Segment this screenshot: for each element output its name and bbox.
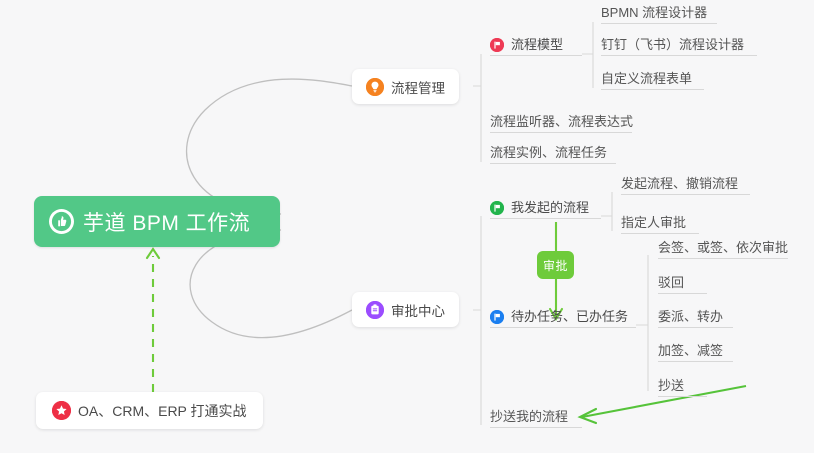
node-label: 指定人审批 [621, 215, 686, 230]
node-countersign[interactable]: 会签、或签、依次审批 [658, 240, 788, 259]
node-process-model[interactable]: 流程模型 [490, 37, 582, 56]
flag-icon [490, 201, 504, 215]
lightbulb-icon [366, 78, 384, 96]
branch-node-label: 流程管理 [391, 77, 445, 97]
branch-node-approval-center[interactable]: 审批中心 [352, 292, 459, 327]
node-label: 我发起的流程 [511, 200, 589, 215]
node-label: 抄送 [658, 378, 684, 393]
node-label: 钉钉（飞书）流程设计器 [601, 37, 744, 52]
node-label: 自定义流程表单 [601, 71, 692, 86]
node-cc-to-me[interactable]: 抄送我的流程 [490, 409, 582, 428]
star-icon [52, 401, 71, 420]
annotation-arrow-root-head [147, 249, 159, 258]
node-label: 待办任务、已办任务 [511, 309, 628, 324]
floating-node-integration-practice[interactable]: OA、CRM、ERP 打通实战 [36, 392, 263, 429]
floating-node-label: OA、CRM、ERP 打通实战 [78, 401, 247, 421]
node-label: BPMN 流程设计器 [601, 5, 707, 20]
node-cc[interactable]: 抄送 [658, 378, 707, 397]
node-process-listener[interactable]: 流程监听器、流程表达式 [490, 114, 632, 133]
node-add-remove-sign[interactable]: 加签、减签 [658, 343, 733, 362]
node-label: 委派、转办 [658, 309, 723, 324]
node-label: 抄送我的流程 [490, 409, 568, 424]
edge-my-started-children [601, 192, 612, 231]
edge-process-model-children [582, 22, 593, 88]
approve-annotation-label: 审批 [543, 257, 568, 274]
node-label: 流程实例、流程任务 [490, 145, 607, 160]
flag-icon [490, 310, 504, 324]
root-node-label: 芋道 BPM 工作流 [83, 207, 250, 237]
approve-annotation-badge: 审批 [537, 251, 574, 279]
mindmap-canvas: 芋道 BPM 工作流 流程管理 流程模型 流程监听器、流程表达式 流程实例、流 [0, 0, 814, 453]
node-custom-form[interactable]: 自定义流程表单 [601, 71, 704, 90]
edge-approval-center-children [473, 216, 481, 425]
root-node[interactable]: 芋道 BPM 工作流 [34, 196, 280, 247]
node-label: 发起流程、撤销流程 [621, 176, 738, 191]
node-my-started-process[interactable]: 我发起的流程 [490, 200, 601, 219]
node-label: 流程监听器、流程表达式 [490, 114, 633, 129]
node-bpmn-designer[interactable]: BPMN 流程设计器 [601, 5, 717, 24]
annotation-arrow-cc-head [580, 409, 596, 423]
flag-icon [490, 38, 504, 52]
node-label: 会签、或签、依次审批 [658, 240, 788, 255]
node-assignee-approval[interactable]: 指定人审批 [621, 215, 699, 234]
edge-todo-children [636, 255, 648, 391]
node-label: 加签、减签 [658, 343, 723, 358]
edge-root-to-process-management [187, 79, 352, 214]
branch-node-process-management[interactable]: 流程管理 [352, 69, 459, 104]
node-delegate-transfer[interactable]: 委派、转办 [658, 309, 733, 328]
node-start-cancel-process[interactable]: 发起流程、撤销流程 [621, 176, 750, 195]
node-process-instance[interactable]: 流程实例、流程任务 [490, 145, 616, 164]
edge-process-management-children [473, 54, 481, 162]
node-label: 驳回 [658, 275, 684, 290]
node-label: 流程模型 [511, 37, 563, 52]
thumbs-up-icon [49, 209, 74, 234]
node-dingtalk-feishu-designer[interactable]: 钉钉（飞书）流程设计器 [601, 37, 757, 56]
node-reject[interactable]: 驳回 [658, 275, 707, 294]
branch-node-label: 审批中心 [391, 300, 445, 320]
node-todo-done-tasks[interactable]: 待办任务、已办任务 [490, 309, 636, 328]
clipboard-icon [366, 301, 384, 319]
